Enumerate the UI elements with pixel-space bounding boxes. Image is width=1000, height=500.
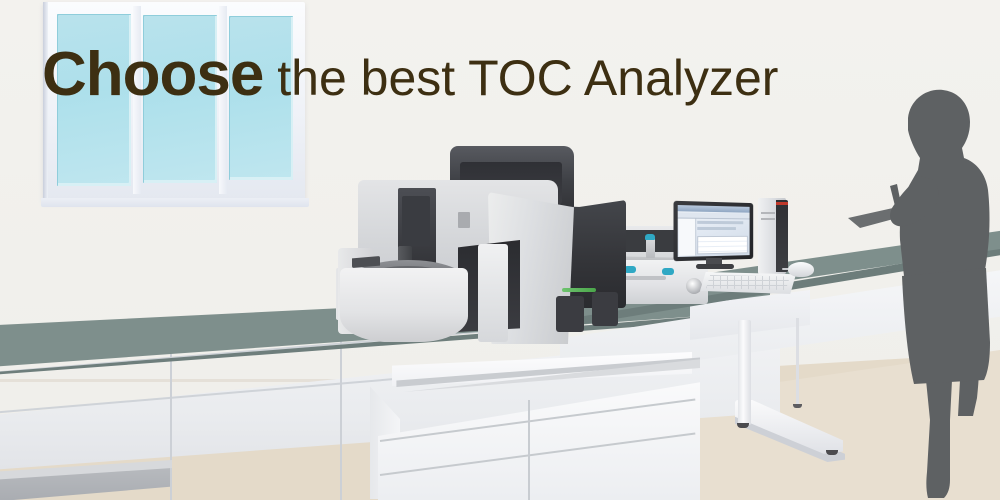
bench-divider-1	[170, 352, 172, 500]
banner-scene: Choose the best TOC Analyzer	[0, 0, 1000, 500]
table-leg-cap-1	[737, 423, 749, 428]
analyzer-dark-foot-1	[556, 296, 584, 332]
window-sill	[41, 198, 309, 207]
bench-leg-thin-cap	[793, 404, 802, 408]
software-row-1	[697, 221, 743, 224]
lab-scientist-silhouette	[840, 80, 1000, 500]
analyzer-dark-window-inner	[402, 196, 430, 246]
monitor-foot	[696, 264, 734, 269]
table-leg-cap-2	[826, 450, 838, 455]
software-sidebar	[679, 219, 696, 256]
aux-vial-2	[646, 238, 655, 258]
software-row-2	[697, 227, 736, 230]
cabinet-front-face	[378, 372, 700, 500]
pc-tower-slot-2	[761, 218, 775, 220]
autosampler-base	[340, 268, 468, 342]
aux-valve-2	[662, 268, 674, 275]
bench-leg-thin	[796, 318, 799, 406]
bench-divider-2	[340, 340, 342, 500]
page-title: Choose the best TOC Analyzer	[42, 44, 778, 106]
analyzer-door-panel	[478, 244, 508, 342]
status-led-green	[562, 288, 596, 292]
pc-tower-accent	[776, 202, 788, 205]
software-data-grid	[697, 236, 748, 255]
monitor-screen	[678, 205, 750, 257]
keyboard-keys	[706, 275, 790, 290]
analyzer-badge	[458, 212, 470, 228]
pc-tower-slot-1	[761, 212, 775, 214]
headline-rest: the best TOC Analyzer	[263, 50, 778, 106]
cabinet-vertical-divider	[528, 400, 530, 500]
toc-analyzer	[338, 140, 628, 350]
computer-monitor	[674, 202, 756, 270]
analyzer-dark-foot-2	[592, 292, 618, 326]
table-leg-column	[738, 320, 751, 425]
headline-bold: Choose	[42, 40, 263, 109]
aux-vial-cap-2	[645, 234, 655, 240]
aux-knob	[686, 278, 702, 294]
mouse	[788, 262, 814, 277]
coat-hem	[902, 268, 990, 384]
drawer-cabinet	[370, 352, 700, 500]
pc-tower-front-panel	[776, 200, 788, 272]
